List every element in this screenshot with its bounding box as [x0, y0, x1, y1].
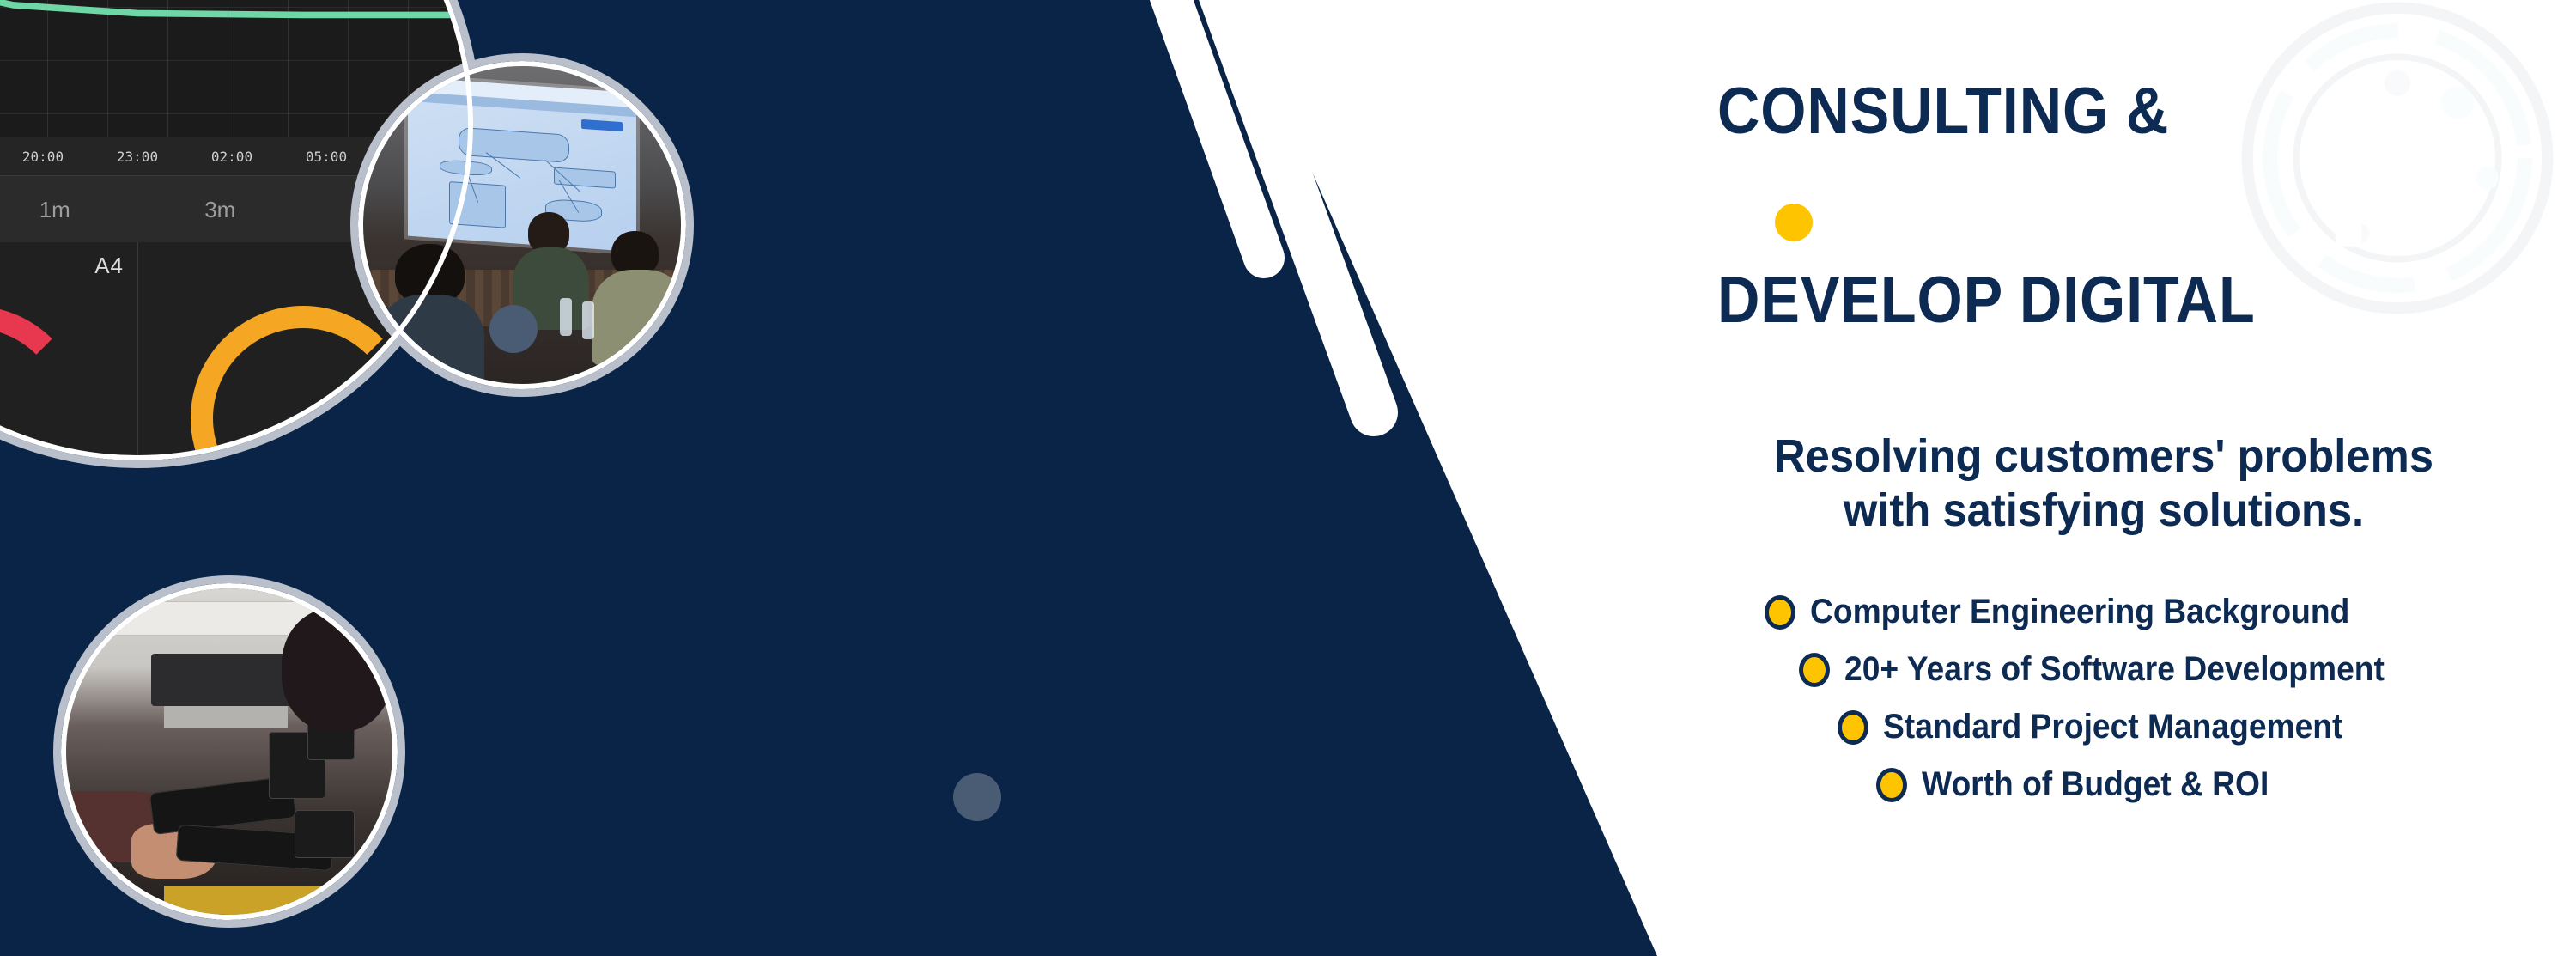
list-item-label: Standard Project Management: [1883, 708, 2342, 746]
robotics-lab-photo: [53, 575, 405, 928]
headline-line-1: CONSULTING &: [1717, 74, 2169, 149]
list-item-label: Worth of Budget & ROI: [1922, 765, 2269, 804]
bullet-dot-icon: [1803, 657, 1826, 683]
list-item-label: Computer Engineering Background: [1810, 593, 2349, 631]
accent-dot-icon: [1775, 204, 1813, 241]
list-item-label: 20+ Years of Software Development: [1844, 650, 2385, 689]
decor-dot-upper: [489, 305, 538, 353]
gauge-a4-arc: [0, 306, 85, 455]
list-item: Computer Engineering Background: [1631, 593, 2542, 631]
axis-tick-3: 23:00: [90, 149, 185, 165]
subheadline-line-2: with satisfying solutions.: [1676, 484, 2531, 538]
projected-architecture-diagram: [408, 77, 636, 253]
list-item: 20+ Years of Software Development: [1631, 650, 2542, 689]
axis-tick-4: 02:00: [185, 149, 279, 165]
hero-content: CONSULTING & DEVELOP DIGITAL Resolving c…: [1631, 0, 2576, 956]
hero-banner: 14:00 17:00 20:00 23:00 02:00 05:00 08:0…: [0, 0, 2576, 956]
range-button-1m[interactable]: 1m: [0, 197, 137, 223]
axis-tick-2: 20:00: [0, 149, 90, 165]
subheadline-line-1: Resolving customers' problems: [1676, 429, 2531, 484]
bullet-dot-icon: [1769, 600, 1791, 625]
axis-tick-5: 05:00: [279, 149, 374, 165]
headline-line-2: DEVELOP DIGITAL: [1717, 263, 2256, 338]
bullet-dot-icon: [1842, 715, 1864, 740]
gauge-a4: A4: [0, 242, 137, 455]
range-button-3m[interactable]: 3m: [137, 197, 303, 223]
value-proposition-list: Computer Engineering Background 20+ Year…: [1631, 593, 2542, 823]
diagram-toolbar-button: [581, 119, 623, 131]
subheadline: Resolving customers' problems with satis…: [1676, 429, 2531, 537]
list-item: Worth of Budget & ROI: [1631, 765, 2542, 804]
bullet-dot-icon: [1880, 772, 1903, 798]
gauge-a4-label: A4: [94, 253, 124, 279]
decor-dot-lower: [953, 773, 1001, 821]
list-item: Standard Project Management: [1631, 708, 2542, 746]
stripe-3: [1413, 0, 1614, 533]
